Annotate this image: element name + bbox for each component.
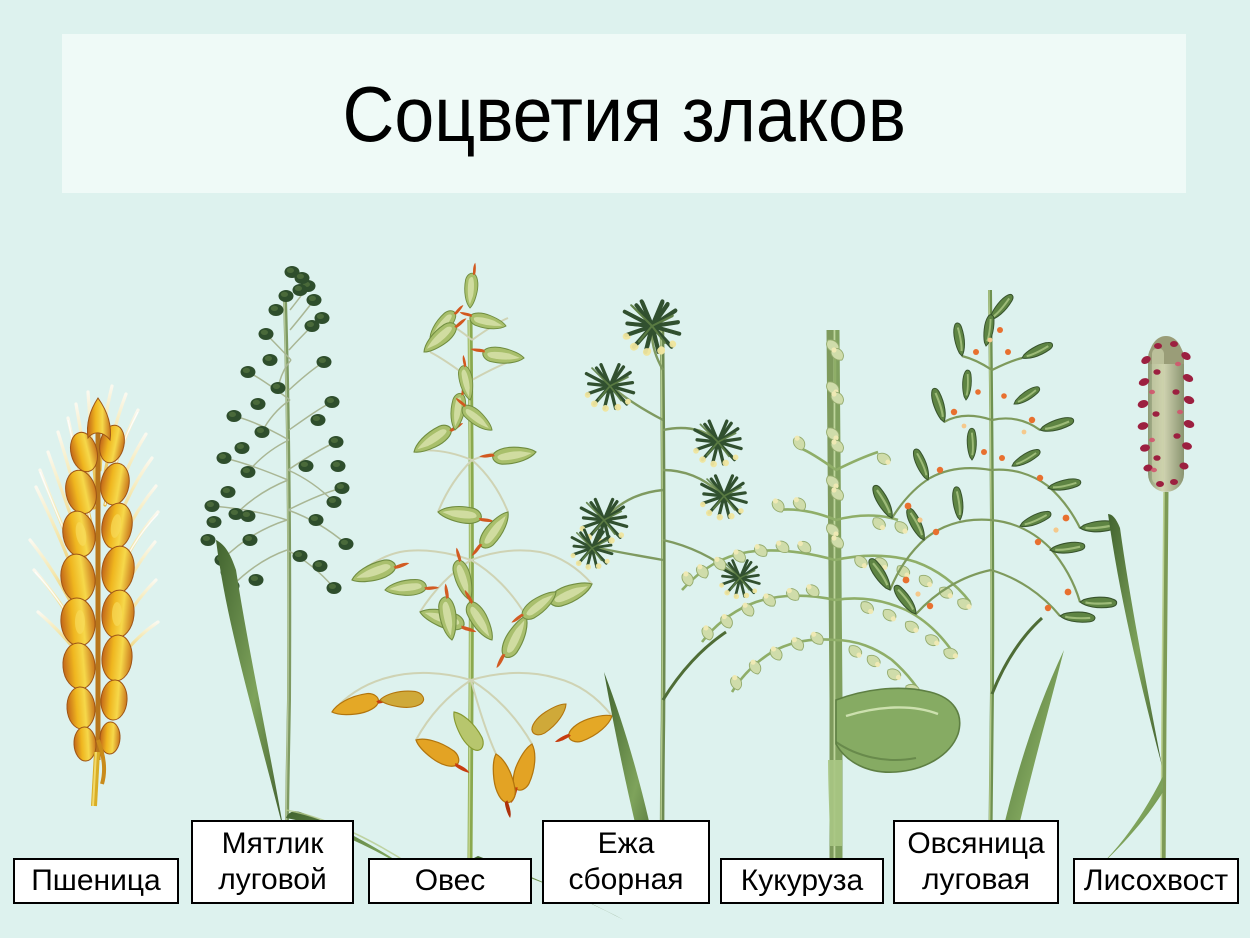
plant-fescue (862, 290, 1118, 884)
label-meadow-grass[interactable]: Мятлик луговой (191, 820, 354, 904)
label-fescue[interactable]: Овсяница луговая (893, 820, 1059, 904)
label-meadow-grass-line-2: луговой (218, 862, 327, 898)
label-wheat[interactable]: Пшеница (13, 858, 179, 904)
plant-cocksfoot (571, 301, 760, 884)
label-oats-line-1: Овес (415, 863, 486, 899)
label-oats[interactable]: Овес (368, 858, 532, 904)
label-maize[interactable]: Кукуруза (720, 858, 884, 904)
plant-wheat (30, 386, 158, 806)
plant-maize (680, 330, 973, 900)
plant-foxtail (1100, 336, 1195, 884)
label-cocksfoot-line-1: Ежа (598, 826, 655, 862)
grass-inflorescences-illustration (0, 0, 1250, 938)
label-fescue-line-2: луговая (922, 862, 1030, 898)
label-wheat-line-1: Пшеница (31, 863, 161, 899)
label-meadow-grass-line-1: Мятлик (222, 826, 324, 862)
label-cocksfoot-line-2: сборная (568, 862, 683, 898)
label-cocksfoot[interactable]: Ежа сборная (542, 820, 710, 904)
label-foxtail[interactable]: Лисохвост (1073, 858, 1239, 904)
label-fescue-line-1: Овсяница (907, 826, 1044, 862)
label-maize-line-1: Кукуруза (741, 863, 863, 899)
label-foxtail-line-1: Лисохвост (1084, 863, 1228, 899)
slide: Соцветия злаков (0, 0, 1250, 938)
